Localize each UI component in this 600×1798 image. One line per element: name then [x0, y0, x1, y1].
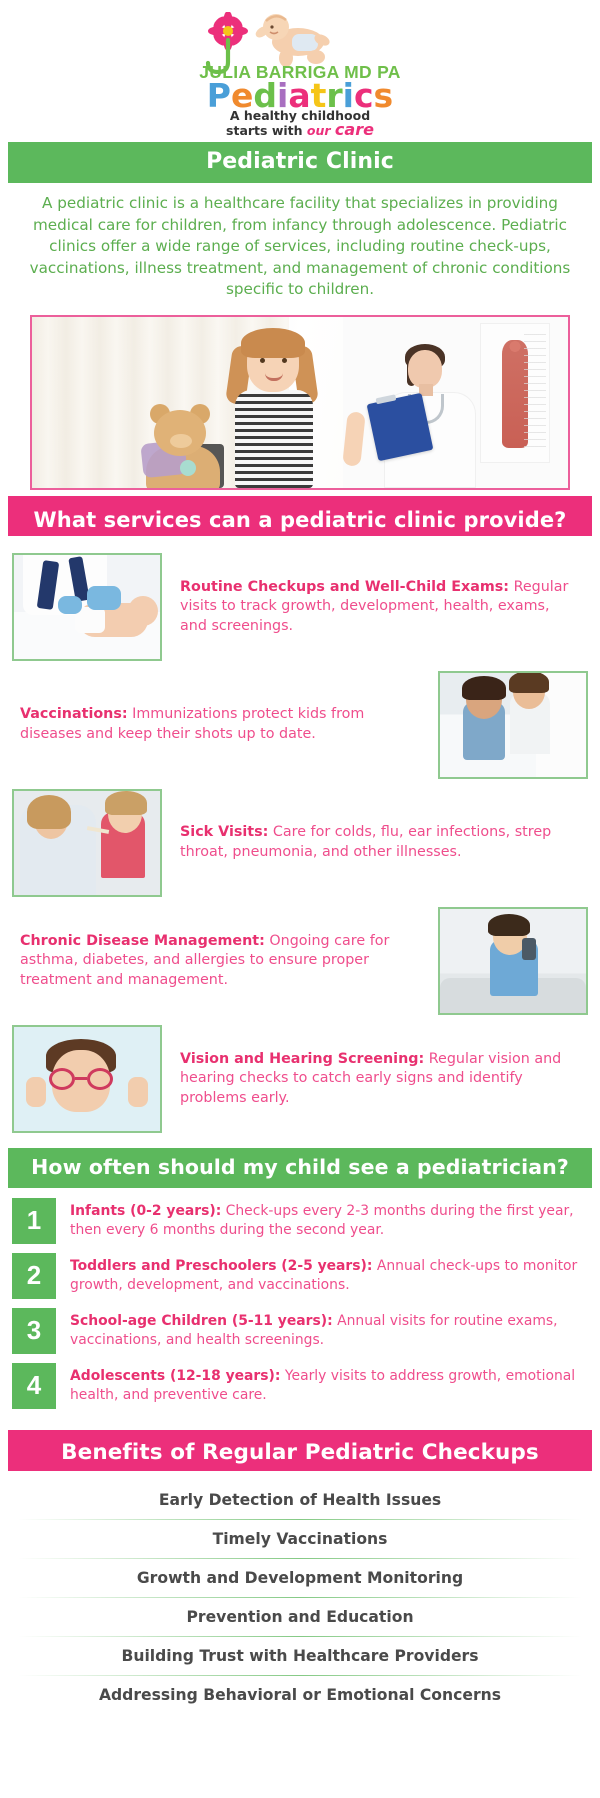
clipboard-icon	[367, 393, 434, 461]
tagline-care: care	[335, 120, 374, 139]
service-text: Vaccinations: Immunizations protect kids…	[12, 705, 438, 744]
frequency-title: Adolescents (12-18 years):	[70, 1368, 280, 1384]
service-thumbnail-chronic-disease	[438, 907, 588, 1015]
frequency-banner: How often should my child see a pediatri…	[8, 1148, 592, 1188]
frequency-row: 1 Infants (0-2 years): Check-ups every 2…	[12, 1198, 588, 1244]
frequency-list: 1 Infants (0-2 years): Check-ups every 2…	[0, 1188, 600, 1424]
frequency-number-badge: 2	[12, 1253, 56, 1299]
service-row: Vision and Hearing Screening: Regular vi…	[0, 1020, 600, 1138]
teddy-bear-figure	[142, 402, 224, 488]
frequency-number-badge: 1	[12, 1198, 56, 1244]
frequency-text: Infants (0-2 years): Check-ups every 2-3…	[56, 1198, 588, 1244]
hero-photo	[30, 315, 570, 490]
anatomy-chart-poster	[480, 323, 550, 463]
girl-patient-figure	[207, 328, 357, 488]
clinic-logo: JULIA BARRIGA MD PA Pediatrics A healthy…	[170, 10, 430, 128]
service-title: Vision and Hearing Screening:	[180, 1051, 424, 1067]
service-row: Sick Visits: Care for colds, flu, ear in…	[0, 784, 600, 902]
service-thumbnail-vision-hearing	[12, 1025, 162, 1133]
frequency-title: School-age Children (5-11 years):	[70, 1313, 333, 1329]
benefit-item: Addressing Behavioral or Emotional Conce…	[18, 1676, 582, 1714]
frequency-text: School-age Children (5-11 years): Annual…	[56, 1308, 588, 1354]
service-row: Chronic Disease Management: Ongoing care…	[0, 902, 600, 1020]
frequency-text: Toddlers and Preschoolers (2-5 years): A…	[56, 1253, 588, 1299]
service-thumbnail-sick-visits	[12, 789, 162, 897]
crawling-baby-icon	[254, 14, 332, 67]
logo-header: JULIA BARRIGA MD PA Pediatrics A healthy…	[0, 0, 600, 136]
intro-paragraph: A pediatric clinic is a healthcare facil…	[18, 193, 582, 301]
frequency-row: 2 Toddlers and Preschoolers (2-5 years):…	[12, 1253, 588, 1299]
frequency-title: Infants (0-2 years):	[70, 1203, 221, 1219]
frequency-title: Toddlers and Preschoolers (2-5 years):	[70, 1258, 372, 1274]
service-text: Routine Checkups and Well-Child Exams: R…	[162, 578, 588, 636]
service-text: Sick Visits: Care for colds, flu, ear in…	[162, 823, 588, 862]
frequency-number-badge: 3	[12, 1308, 56, 1354]
pediatric-clinic-banner: Pediatric Clinic	[8, 142, 592, 183]
frequency-row: 4 Adolescents (12-18 years): Yearly visi…	[12, 1363, 588, 1409]
services-banner: What services can a pediatric clinic pro…	[8, 496, 592, 536]
benefits-list: Early Detection of Health Issues Timely …	[0, 1471, 600, 1720]
infographic-page: JULIA BARRIGA MD PA Pediatrics A healthy…	[0, 0, 600, 1734]
service-thumbnail-vaccinations	[438, 671, 588, 779]
benefits-banner: Benefits of Regular Pediatric Checkups	[8, 1430, 592, 1471]
service-thumbnail-routine-checkups	[12, 553, 162, 661]
benefit-item: Building Trust with Healthcare Providers	[18, 1637, 582, 1675]
service-title: Chronic Disease Management:	[20, 933, 265, 949]
service-row: Routine Checkups and Well-Child Exams: R…	[0, 548, 600, 666]
benefit-item: Growth and Development Monitoring	[18, 1559, 582, 1597]
service-title: Sick Visits:	[180, 824, 268, 840]
service-text: Vision and Hearing Screening: Regular vi…	[162, 1050, 588, 1108]
service-row: Vaccinations: Immunizations protect kids…	[0, 666, 600, 784]
logo-tagline-line2: starts with our care	[170, 120, 430, 139]
benefit-item: Prevention and Education	[18, 1598, 582, 1636]
tagline-plain: starts with	[226, 123, 303, 138]
tagline-our: our	[307, 123, 331, 138]
service-title: Routine Checkups and Well-Child Exams:	[180, 579, 509, 595]
benefit-item: Early Detection of Health Issues	[18, 1481, 582, 1519]
benefit-item: Timely Vaccinations	[18, 1520, 582, 1558]
frequency-text: Adolescents (12-18 years): Yearly visits…	[56, 1363, 588, 1409]
service-title: Vaccinations:	[20, 706, 128, 722]
doctor-figure	[378, 336, 482, 488]
service-text: Chronic Disease Management: Ongoing care…	[12, 932, 438, 990]
frequency-row: 3 School-age Children (5-11 years): Annu…	[12, 1308, 588, 1354]
services-list: Routine Checkups and Well-Child Exams: R…	[0, 536, 600, 1142]
frequency-number-badge: 4	[12, 1363, 56, 1409]
